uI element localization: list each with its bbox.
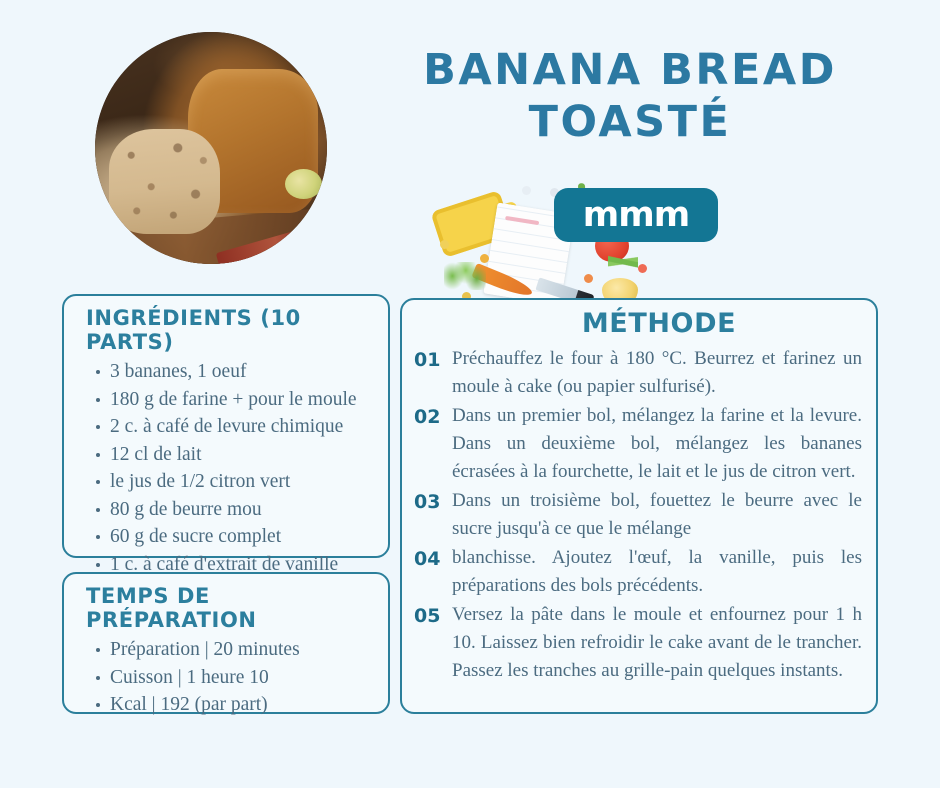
step-number: 03 xyxy=(414,487,452,516)
step-text: Dans un premier bol, mélangez la farine … xyxy=(452,402,862,486)
list-item: 60 g de sucre complet xyxy=(110,523,374,551)
step-text: blanchisse. Ajoutez l'œuf, la vanille, p… xyxy=(452,544,862,600)
food-dot-icon xyxy=(638,264,647,273)
prep-time-list: Préparation | 20 minutes Cuisson | 1 heu… xyxy=(64,636,388,719)
step-number: 04 xyxy=(414,544,452,573)
food-dot-icon xyxy=(522,186,531,195)
step-text: Dans un troisième bol, fouettez le beurr… xyxy=(452,487,862,543)
step-number: 01 xyxy=(414,345,452,374)
list-item: 3 bananes, 1 oeuf xyxy=(110,358,374,386)
list-item: Préparation | 20 minutes xyxy=(110,636,374,664)
list-item: Kcal | 192 (par part) xyxy=(110,691,374,719)
prep-time-title: TEMPS DE PRÉPARATION xyxy=(86,584,388,632)
leafy-greens-icon xyxy=(444,262,486,290)
page-title: BANANA BREAD TOASTÉ xyxy=(380,44,880,148)
method-title: MÉTHODE xyxy=(442,308,876,339)
list-item: 12 cl de lait xyxy=(110,441,374,469)
title-line-1: BANANA BREAD xyxy=(423,45,837,95)
cutting-board-icon xyxy=(430,190,513,258)
list-item: le jus de 1/2 citron vert xyxy=(110,468,374,496)
list-item: 2 c. à café de levure chimique xyxy=(110,413,374,441)
food-dot-icon xyxy=(584,274,593,283)
food-dot-icon xyxy=(480,254,489,263)
method-step: 03 Dans un troisième bol, fouettez le be… xyxy=(414,487,862,543)
step-text: Versez la pâte dans le moule et enfourne… xyxy=(452,601,862,685)
ingredients-list: 3 bananes, 1 oeuf 180 g de farine + pour… xyxy=(64,358,388,578)
prep-time-panel: TEMPS DE PRÉPARATION Préparation | 20 mi… xyxy=(62,572,390,714)
title-line-2: TOASTÉ xyxy=(380,96,880,148)
list-item: 80 g de beurre mou xyxy=(110,496,374,524)
step-number: 02 xyxy=(414,402,452,431)
logo-text: mmm xyxy=(583,198,689,233)
ingredients-panel: INGRÉDIENTS (10 PARTS) 3 bananes, 1 oeuf… xyxy=(62,294,390,558)
ingredients-title: INGRÉDIENTS (10 PARTS) xyxy=(86,306,388,354)
method-steps: 01 Préchauffez le four à 180 °C. Beurrez… xyxy=(402,345,876,685)
method-step: 04 blanchisse. Ajoutez l'œuf, la vanille… xyxy=(414,544,862,600)
lime-shape xyxy=(285,169,322,199)
step-number: 05 xyxy=(414,601,452,630)
method-step: 05 Versez la pâte dans le moule et enfou… xyxy=(414,601,862,685)
list-item: Cuisson | 1 heure 10 xyxy=(110,664,374,692)
recipe-photo xyxy=(95,32,327,264)
recipe-card: BANANA BREAD TOASTÉ mmm INGRÉDIENTS (10 … xyxy=(0,0,940,788)
method-panel: MÉTHODE 01 Préchauffez le four à 180 °C.… xyxy=(400,298,878,714)
banana-bread-image xyxy=(95,32,327,264)
method-step: 01 Préchauffez le four à 180 °C. Beurrez… xyxy=(414,345,862,401)
brand-logo-block: mmm xyxy=(432,178,732,298)
method-step: 02 Dans un premier bol, mélangez la fari… xyxy=(414,402,862,486)
food-dot-icon xyxy=(440,240,449,249)
mmm-logo[interactable]: mmm xyxy=(554,188,718,242)
loaf-slice-shape xyxy=(109,129,220,233)
carrot-icon xyxy=(471,263,534,300)
step-text: Préchauffez le four à 180 °C. Beurrez et… xyxy=(452,345,862,401)
list-item: 180 g de farine + pour le moule xyxy=(110,386,374,414)
